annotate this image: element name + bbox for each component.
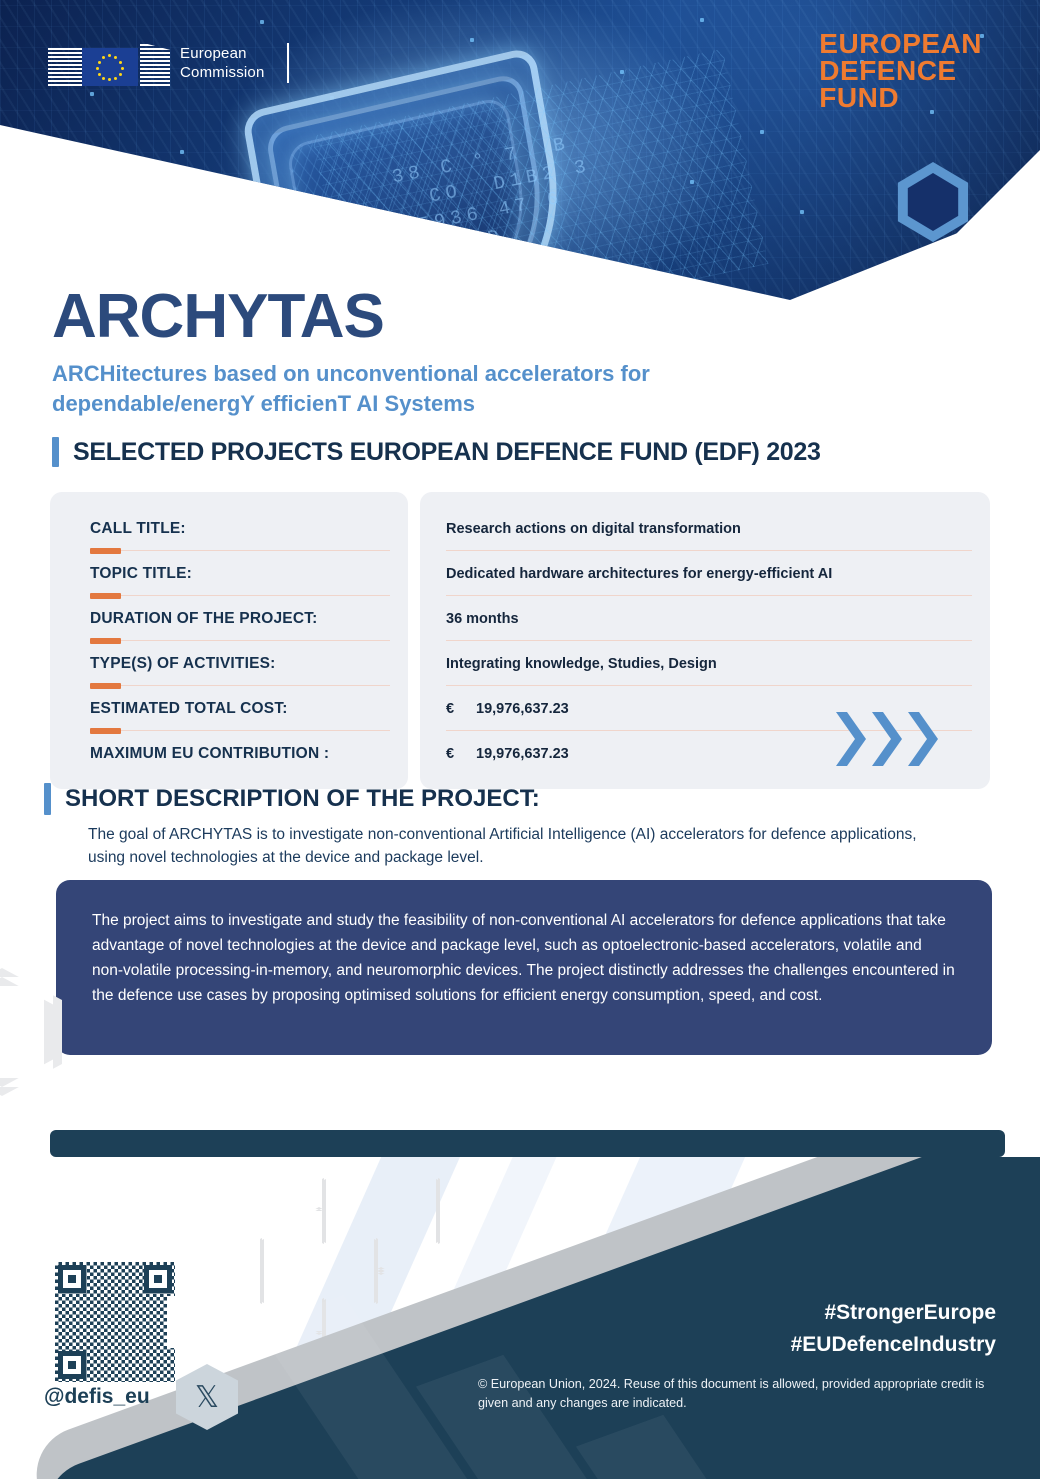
ec-logo-line2: Commission (180, 63, 265, 82)
table-row: Research actions on digital transformati… (420, 510, 990, 548)
info-label-column: CALL TITLE: TOPIC TITLE: DURATION OF THE… (50, 492, 408, 789)
selected-projects-heading: SELECTED PROJECTS EUROPEAN DEFENCE FUND … (52, 437, 992, 467)
hexagon-outline-decoration (0, 968, 62, 1096)
row-separator (446, 683, 972, 690)
orange-dash (90, 728, 121, 734)
footer-divider-bar (50, 1130, 1005, 1157)
selected-projects-heading-text: SELECTED PROJECTS EUROPEAN DEFENCE FUND … (73, 438, 821, 467)
edf-line-2: DEFENCE (819, 57, 982, 84)
table-row: ESTIMATED TOTAL COST: (50, 690, 408, 728)
project-subtitle: ARCHitectures based on unconventional ac… (52, 359, 992, 419)
table-row: MAXIMUM EU CONTRIBUTION : (50, 735, 408, 773)
heading-accent-bar (44, 783, 51, 815)
project-title: ARCHYTAS (52, 285, 992, 349)
row-separator (90, 548, 390, 555)
row-label: ESTIMATED TOTAL COST: (90, 700, 288, 718)
hashtag-stronger-europe: #StrongerEurope (791, 1297, 996, 1329)
table-row: CALL TITLE: (50, 510, 408, 548)
qr-finder-icon (58, 1265, 86, 1293)
row-value: 19,976,637.23 (476, 701, 569, 717)
table-row: 36 months (420, 600, 990, 638)
row-value: Integrating knowledge, Studies, Design (446, 656, 717, 672)
eu-flag-icon (82, 48, 138, 86)
qr-code[interactable] (55, 1262, 175, 1382)
copyright-notice: © European Union, 2024. Reuse of this do… (478, 1375, 1008, 1413)
row-value: 19,976,637.23 (476, 746, 569, 762)
row-separator (90, 593, 390, 600)
project-detail-box: The project aims to investigate and stud… (56, 880, 992, 1055)
qr-finder-icon (144, 1265, 172, 1293)
orange-dash (90, 683, 121, 689)
row-label: DURATION OF THE PROJECT: (90, 610, 318, 628)
table-row: TOPIC TITLE: (50, 555, 408, 593)
row-value: Research actions on digital transformati… (446, 521, 741, 537)
european-defence-fund-logo: EUROPEAN DEFENCE FUND (819, 30, 982, 111)
title-block: ARCHYTAS ARCHitectures based on unconven… (52, 285, 992, 467)
table-row: Dedicated hardware architectures for ene… (420, 555, 990, 593)
hashtags: #StrongerEurope #EUDefenceIndustry (791, 1297, 996, 1361)
header-banner: 38 C ° 7 B CO D1B2 3 5936 47 6 0AD (0, 0, 1040, 300)
row-separator (446, 548, 972, 555)
european-commission-logo: European Commission (48, 40, 289, 86)
orange-dash (90, 548, 121, 554)
currency-symbol: € (446, 701, 476, 717)
project-detail-text: The project aims to investigate and stud… (92, 908, 956, 1008)
ec-logo-line1: European (180, 44, 265, 63)
short-description-heading: SHORT DESCRIPTION OF THE PROJECT: (44, 783, 540, 815)
ec-logo-mark (48, 40, 170, 86)
ec-logo-text: European Commission (180, 44, 265, 82)
table-row: DURATION OF THE PROJECT: (50, 600, 408, 638)
logo-divider (287, 43, 289, 83)
orange-dash (90, 593, 121, 599)
table-row: TYPE(S) OF ACTIVITIES: (50, 645, 408, 683)
poster-page: 38 C ° 7 B CO D1B2 3 5936 47 6 0AD (0, 0, 1040, 1479)
row-value: Dedicated hardware architectures for ene… (446, 566, 832, 582)
short-description-summary: The goal of ARCHYTAS is to investigate n… (88, 823, 918, 869)
row-value: 36 months (446, 611, 519, 627)
row-separator (90, 728, 390, 735)
currency-symbol: € (446, 746, 476, 762)
chevron-right-icon (836, 712, 866, 766)
edf-line-1: EUROPEAN (819, 30, 982, 57)
row-label: TOPIC TITLE: (90, 565, 192, 583)
heading-accent-bar (52, 437, 59, 467)
social-handle[interactable]: @defis_eu (44, 1385, 150, 1409)
row-separator (446, 593, 972, 600)
chevron-right-icon (872, 712, 902, 766)
row-label: CALL TITLE: (90, 520, 186, 538)
row-label: TYPE(S) OF ACTIVITIES: (90, 655, 276, 673)
chevron-right-icon (908, 712, 938, 766)
project-subtitle-line1: ARCHitectures based on unconventional ac… (52, 359, 992, 389)
row-separator (90, 683, 390, 690)
edf-line-3: FUND (819, 84, 982, 111)
project-subtitle-line2: dependable/energY efficienT AI Systems (52, 389, 992, 419)
chevron-arrows-decoration (836, 712, 938, 766)
hashtag-eu-defence-industry: #EUDefenceIndustry (791, 1329, 996, 1361)
x-glyph: 𝕏 (195, 1380, 219, 1415)
table-row: Integrating knowledge, Studies, Design (420, 645, 990, 683)
short-description-heading-text: SHORT DESCRIPTION OF THE PROJECT: (65, 785, 540, 813)
row-separator (446, 638, 972, 645)
orange-dash (90, 638, 121, 644)
row-label: MAXIMUM EU CONTRIBUTION : (90, 745, 329, 763)
row-separator (90, 638, 390, 645)
qr-finder-icon (58, 1351, 86, 1379)
